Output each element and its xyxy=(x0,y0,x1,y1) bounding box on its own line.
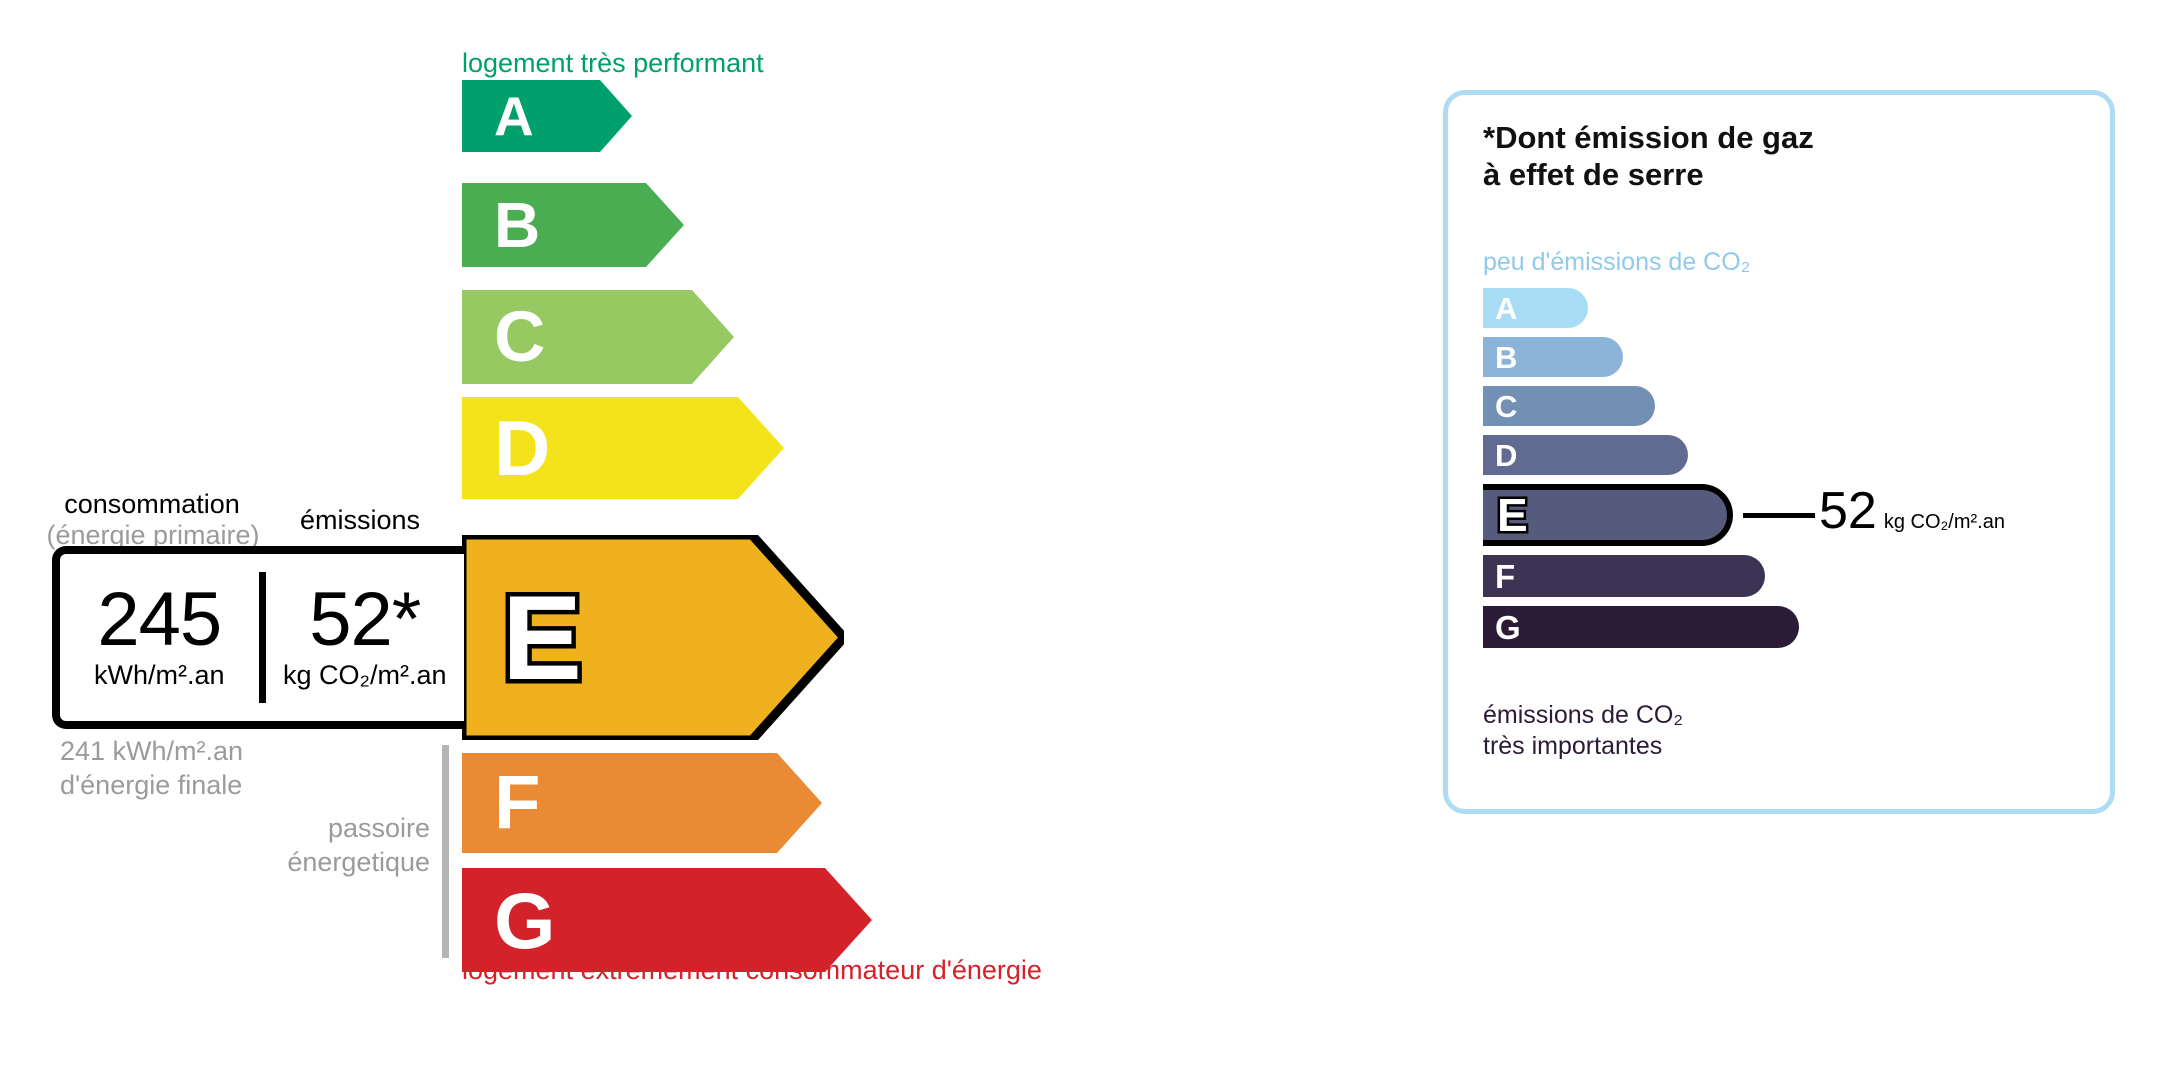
label-energie-finale: 241 kWh/m².an d'énergie finale xyxy=(60,735,243,803)
co2-bar-letter-c: C xyxy=(1495,391,1517,422)
band-letter-f: F xyxy=(494,765,540,841)
energy-performance-ladder: logement très performant ABCDEFG logemen… xyxy=(0,0,1400,1079)
energy-band-e: E xyxy=(462,535,844,740)
co2-leader-line xyxy=(1743,513,1815,518)
co2-bar-letter-d: D xyxy=(1495,440,1517,471)
dpe-diagram: logement très performant ABCDEFG logemen… xyxy=(0,0,2169,1079)
energie-finale-line2: d'énergie finale xyxy=(60,769,243,803)
band-letter-a: A xyxy=(494,89,534,144)
energy-band-a: A xyxy=(462,80,632,152)
co2-value-label: 52kg CO₂/m².an xyxy=(1819,485,2005,537)
value-box-divider xyxy=(259,572,266,703)
co2-bar-d: D xyxy=(1483,435,1688,475)
label-passoire-energetique: passoire énergetique xyxy=(140,812,430,880)
emission-cell: 52* kg CO₂/m².an xyxy=(266,554,465,721)
co2-value-number: 52 xyxy=(1819,485,1877,537)
consumption-unit: kWh/m².an xyxy=(94,660,225,691)
co2-bar-b: B xyxy=(1483,337,1623,377)
band-letter-e: E xyxy=(502,578,582,698)
band-letter-b: B xyxy=(494,193,540,257)
consumption-value: 245 xyxy=(97,584,221,656)
energy-band-c: C xyxy=(462,290,734,384)
co2-bar-f: F xyxy=(1483,555,1765,597)
energy-band-f: F xyxy=(462,753,822,853)
energie-finale-line1: 241 kWh/m².an xyxy=(60,735,243,769)
value-box: 245 kWh/m².an 52* kg CO₂/m².an xyxy=(52,546,464,729)
co2-value-unit: kg CO₂/m².an xyxy=(1884,511,2005,534)
co2-bar-letter-a: A xyxy=(1495,293,1517,324)
band-letter-g: G xyxy=(494,881,555,960)
co2-bar-c: C xyxy=(1483,386,1655,426)
emission-unit: kg CO₂/m².an xyxy=(283,660,447,691)
energy-band-b: B xyxy=(462,183,684,267)
co2-bar-a: A xyxy=(1483,288,1588,328)
co2-bottom-line1: émissions de CO₂ xyxy=(1483,700,1683,731)
co2-bar-letter-f: F xyxy=(1495,560,1515,593)
band-letter-d: D xyxy=(494,409,550,487)
passoire-line1: passoire xyxy=(140,812,430,846)
band-letter-c: C xyxy=(494,302,545,373)
band-arrow-shape-a xyxy=(462,80,632,152)
co2-title-line1: *Dont émission de gaz xyxy=(1483,120,1814,157)
co2-bottom-caption: émissions de CO₂ très importantes xyxy=(1483,700,1683,761)
co2-bar-g: G xyxy=(1483,606,1799,648)
co2-panel-title: *Dont émission de gaz à effet de serre xyxy=(1483,120,1814,193)
label-consommation: consommation xyxy=(52,489,252,520)
co2-bar-letter-g: G xyxy=(1495,611,1521,644)
label-emissions: émissions xyxy=(300,505,420,536)
co2-bar-e: E xyxy=(1483,484,1733,546)
passoire-indicator-bar xyxy=(442,745,449,958)
co2-top-caption: peu d'émissions de CO₂ xyxy=(1483,248,1750,277)
passoire-line2: énergetique xyxy=(140,846,430,880)
energy-band-d: D xyxy=(462,397,784,499)
co2-panel: *Dont émission de gaz à effet de serre p… xyxy=(1443,90,2115,814)
co2-title-line2: à effet de serre xyxy=(1483,157,1814,194)
ladder-top-caption: logement très performant xyxy=(462,48,764,79)
co2-bar-letter-b: B xyxy=(1495,342,1517,373)
co2-bottom-line2: très importantes xyxy=(1483,731,1683,762)
consumption-cell: 245 kWh/m².an xyxy=(60,554,259,721)
emission-value: 52* xyxy=(309,584,420,656)
co2-bar-letter-e: E xyxy=(1497,492,1528,538)
